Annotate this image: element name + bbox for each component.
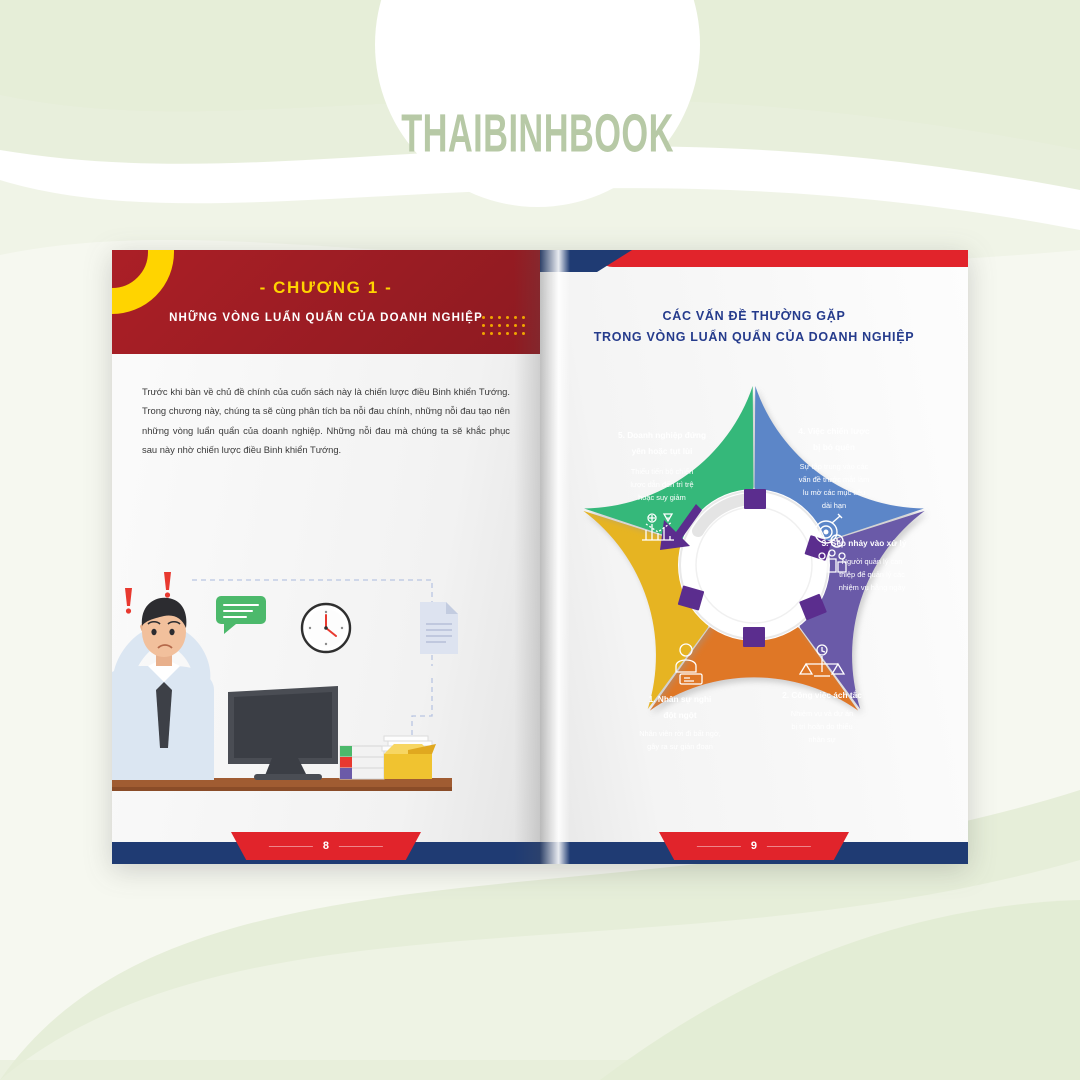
diagram-title: CÁC VẤN ĐỀ THƯỜNG GẶP TRONG VÒNG LUẨN QU… <box>540 306 968 349</box>
red-top-bar <box>596 250 968 267</box>
segment-1-label-line2: đột ngột <box>663 710 696 720</box>
chapter-label: - CHƯƠNG 1 - <box>112 250 540 298</box>
right-page-top-decoration <box>540 250 968 272</box>
body-paragraph: Trước khi bàn về chủ đề chính của cuốn s… <box>142 382 510 459</box>
segment-4-label-line1: 4. Việc chiến lược <box>798 426 870 436</box>
page-number-right: 9 <box>751 840 757 852</box>
document-icon <box>420 602 458 654</box>
segment-5-label-line2: yên hoặc tụt lùi <box>632 446 693 456</box>
cycle-diagram: 5. Doanh nghiệp đứng yên hoặc tụt lùi Th… <box>554 350 954 780</box>
diagram-title-line1: CÁC VẤN ĐỀ THƯỜNG GẶP <box>540 306 968 327</box>
segment-4-desc-4: dài hạn <box>822 501 846 510</box>
segment-5-desc-2: lược dẫn đến trì trệ <box>630 480 693 489</box>
chapter-subtitle: NHỮNG VÒNG LUẨN QUẨN CỦA DOANH NGHIỆP <box>112 298 540 324</box>
badge-rule-right-r <box>767 846 811 847</box>
page-footer-right: 9 <box>540 842 968 864</box>
stressed-office-worker-illustration <box>112 566 540 816</box>
segment-4-desc-2: vấn đề trước mắt làm <box>799 475 870 484</box>
book-page-right: CÁC VẤN ĐỀ THƯỜNG GẶP TRONG VÒNG LUẨN QU… <box>540 250 968 864</box>
segment-1-desc-1: Nhân viên rời đi bất ngờ, <box>639 729 721 738</box>
segment-4-desc-1: Sự tập trung vào các <box>800 462 869 471</box>
segment-1-label-line1: 1. Nhân sự nghỉ <box>649 694 712 704</box>
binders-icon <box>340 746 384 779</box>
hub-inner-disc <box>696 507 812 623</box>
segment-2-desc-1: Nhiệm vụ và dự án <box>791 709 853 718</box>
badge-rule-left <box>269 846 313 847</box>
segment-4-label-line2: bị bỏ quên <box>813 442 855 452</box>
segment-3-desc-2: thiệp để quản lý các <box>839 570 905 579</box>
open-book-spread: - CHƯƠNG 1 - NHỮNG VÒNG LUẨN QUẨN CỦA DO… <box>112 250 968 864</box>
segment-5-desc-1: Thiếu tiến bộ chiến <box>631 467 693 476</box>
diagram-title-line2: TRONG VÒNG LUẨN QUẨN CỦA DOANH NGHIỆP <box>540 327 968 348</box>
chat-bubble-icon <box>216 596 266 634</box>
segment-3-label: 3. Sếp nhảy vào xử lý <box>822 538 907 548</box>
watermark-text: THAIBINHBOOK <box>401 104 674 165</box>
segment-2-desc-2: bị trì hoãn do thiếu <box>791 722 852 731</box>
badge-rule-right <box>339 846 383 847</box>
page-footer-left: 8 <box>112 842 540 864</box>
monitor-icon <box>228 686 338 780</box>
segment-2-label: 2. Công việc ách tắc <box>782 689 862 700</box>
segment-3-desc-3: nhiệm vụ hằng ngày <box>839 583 906 592</box>
page-number-badge-right: 9 <box>659 832 849 860</box>
segment-4-desc-3: lu mờ các mục tiêu <box>803 488 865 497</box>
page-number-left: 8 <box>323 840 329 852</box>
person-figure <box>112 598 214 780</box>
segment-5-desc-3: hoặc suy giảm <box>638 493 686 502</box>
cardboard-box-icon <box>384 744 436 779</box>
page-number-badge-left: 8 <box>231 832 421 860</box>
segment-5-label-line1: 5. Doanh nghiệp đứng <box>618 430 706 440</box>
segment-1-desc-2: gây ra sự gián đoạn <box>647 742 713 751</box>
chapter-header: - CHƯƠNG 1 - NHỮNG VÒNG LUẨN QUẨN CỦA DO… <box>112 250 540 354</box>
badge-rule-left-r <box>697 846 741 847</box>
segment-3-desc-1: Người quản lý can <box>842 557 903 566</box>
segment-2-desc-3: nhân sự <box>808 735 835 744</box>
book-page-left: - CHƯƠNG 1 - NHỮNG VÒNG LUẨN QUẨN CỦA DO… <box>112 250 540 864</box>
wall-clock-icon <box>302 604 350 652</box>
